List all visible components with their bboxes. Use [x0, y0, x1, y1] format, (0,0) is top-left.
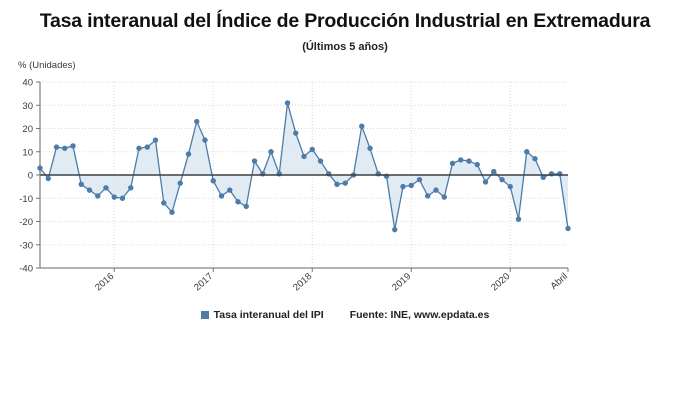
data-point[interactable] — [235, 199, 240, 204]
chart-source: Fuente: INE, www.epdata.es — [350, 309, 490, 321]
data-point[interactable] — [95, 193, 100, 198]
x-axis-tick-label: 2020 — [489, 271, 512, 293]
data-point[interactable] — [186, 151, 191, 156]
data-point[interactable] — [70, 143, 75, 148]
data-point[interactable] — [178, 180, 183, 185]
data-point[interactable] — [367, 146, 372, 151]
data-point[interactable] — [442, 194, 447, 199]
y-axis-tick-label: 40 — [22, 78, 33, 89]
data-point[interactable] — [161, 200, 166, 205]
y-axis-tick-label: 0 — [28, 171, 33, 182]
data-point[interactable] — [392, 227, 397, 232]
data-point[interactable] — [417, 177, 422, 182]
data-point[interactable] — [458, 157, 463, 162]
data-point[interactable] — [153, 137, 158, 142]
data-point[interactable] — [475, 162, 480, 167]
data-point[interactable] — [202, 137, 207, 142]
data-point[interactable] — [508, 184, 513, 189]
data-point[interactable] — [120, 196, 125, 201]
data-point[interactable] — [211, 178, 216, 183]
y-axis-tick-label: -40 — [19, 264, 33, 275]
x-axis-tick-label: 2017 — [192, 271, 215, 293]
y-axis-tick-label: 30 — [22, 101, 33, 112]
data-point[interactable] — [310, 147, 315, 152]
data-point[interactable] — [103, 185, 108, 190]
data-point[interactable] — [301, 154, 306, 159]
chart-plot-area: 403020100-10-20-30-402016201720182019202… — [0, 0, 690, 406]
series-area-fill — [40, 103, 568, 230]
x-axis-tick-label: 2019 — [390, 271, 413, 293]
chart-container: Tasa interanual del Índice de Producción… — [0, 0, 690, 406]
legend-label: Tasa interanual del IPI — [214, 309, 324, 321]
data-point[interactable] — [136, 146, 141, 151]
data-point[interactable] — [343, 180, 348, 185]
data-point[interactable] — [285, 100, 290, 105]
data-point[interactable] — [532, 156, 537, 161]
data-point[interactable] — [169, 210, 174, 215]
data-point[interactable] — [145, 144, 150, 149]
data-point[interactable] — [252, 158, 257, 163]
x-axis-tick-label: 2018 — [291, 271, 314, 293]
data-point[interactable] — [268, 149, 273, 154]
data-point[interactable] — [491, 169, 496, 174]
data-point[interactable] — [425, 193, 430, 198]
data-point[interactable] — [524, 149, 529, 154]
data-point[interactable] — [450, 161, 455, 166]
legend-item-ipi[interactable]: Tasa interanual del IPI — [201, 309, 324, 321]
data-point[interactable] — [79, 182, 84, 187]
y-axis-tick-label: 10 — [22, 147, 33, 158]
data-point[interactable] — [359, 123, 364, 128]
data-point[interactable] — [194, 119, 199, 124]
data-point[interactable] — [466, 158, 471, 163]
data-point[interactable] — [87, 187, 92, 192]
data-point[interactable] — [62, 146, 67, 151]
data-point[interactable] — [400, 184, 405, 189]
y-axis-tick-label: -30 — [19, 240, 33, 251]
chart-legend: Tasa interanual del IPI Fuente: INE, www… — [0, 309, 690, 321]
data-point[interactable] — [516, 216, 521, 221]
data-point[interactable] — [318, 158, 323, 163]
data-point[interactable] — [112, 194, 117, 199]
y-axis-tick-label: 20 — [22, 124, 33, 135]
data-point[interactable] — [334, 182, 339, 187]
data-point[interactable] — [46, 176, 51, 181]
data-point[interactable] — [433, 187, 438, 192]
data-point[interactable] — [227, 187, 232, 192]
data-point[interactable] — [565, 226, 570, 231]
y-axis-tick-label: -20 — [19, 217, 33, 228]
data-point[interactable] — [499, 177, 504, 182]
data-point[interactable] — [483, 179, 488, 184]
data-point[interactable] — [128, 185, 133, 190]
x-axis-tick-label: Abril — [549, 271, 570, 292]
x-axis-tick-label: 2016 — [93, 271, 116, 293]
data-point[interactable] — [54, 144, 59, 149]
data-point[interactable] — [244, 204, 249, 209]
data-point[interactable] — [219, 193, 224, 198]
y-axis-tick-label: -10 — [19, 194, 33, 205]
data-point[interactable] — [409, 183, 414, 188]
data-point[interactable] — [293, 130, 298, 135]
legend-swatch-icon — [201, 311, 209, 319]
